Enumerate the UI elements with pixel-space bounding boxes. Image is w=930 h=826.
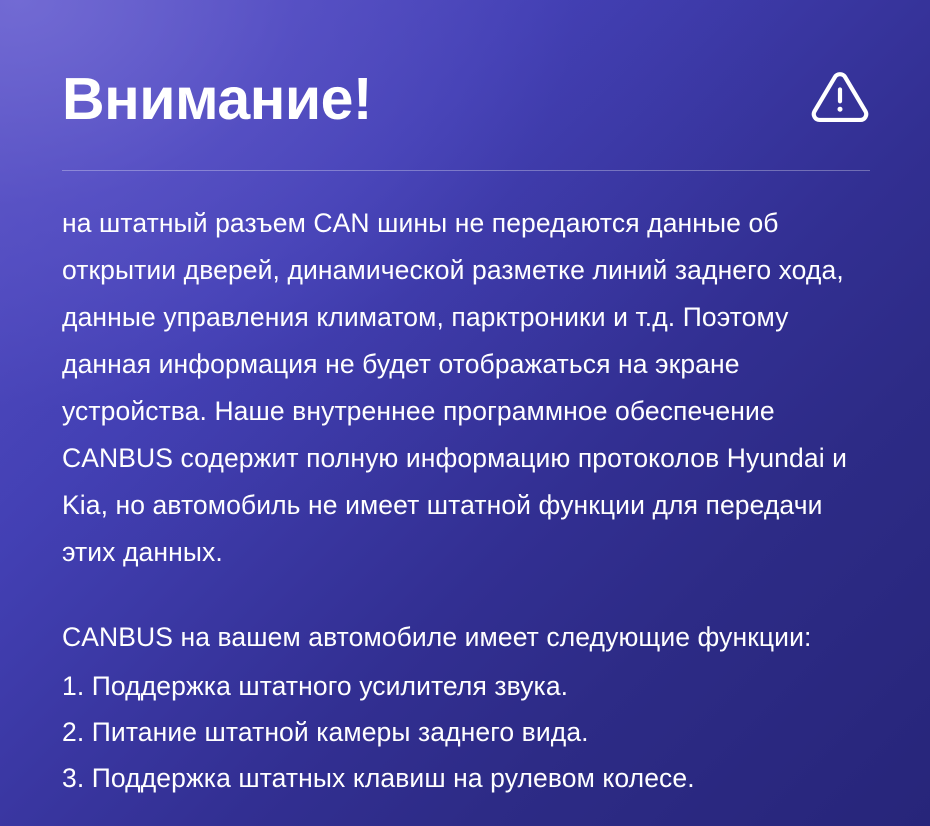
banner-body: на штатный разъем CAN шины не передаются…: [62, 200, 882, 801]
list-item: 1. Поддержка штатного усилителя звука.: [62, 663, 882, 709]
header-divider: [62, 170, 870, 171]
list-item: 2. Питание штатной камеры заднего вида.: [62, 709, 882, 755]
intro-paragraph: на штатный разъем CAN шины не передаются…: [62, 200, 882, 576]
warning-banner: Внимание! на штатный разъем CAN шины не …: [0, 0, 930, 826]
page-title: Внимание!: [62, 69, 372, 129]
feature-list: 1. Поддержка штатного усилителя звука. 2…: [62, 663, 882, 801]
list-item: 3. Поддержка штатных клавиш на рулевом к…: [62, 755, 882, 801]
warning-triangle-icon: [810, 73, 870, 125]
banner-header: Внимание!: [62, 52, 870, 146]
feature-list-heading: CANBUS на вашем автомобиле имеет следующ…: [62, 614, 882, 661]
